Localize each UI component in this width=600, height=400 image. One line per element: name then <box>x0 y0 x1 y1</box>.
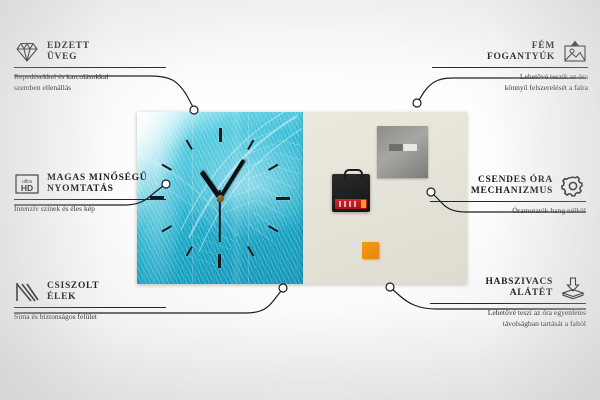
divider <box>14 307 166 308</box>
feature-title: HABSZIVACS ALÁTÉT <box>485 277 553 300</box>
polished-edges-icon <box>14 280 40 304</box>
foam-pad <box>362 242 379 259</box>
foam-pad-icon <box>560 276 586 300</box>
divider <box>14 199 166 200</box>
svg-text:HD: HD <box>21 183 33 193</box>
feature-desc: Óramutatók hang nélkül <box>430 206 586 217</box>
feature-fem-fogantyuk[interactable]: FÉM FOGANTYÚK Lehetővé teszik az óra kön… <box>432 40 588 93</box>
feature-magas-minosegu-nyomtatas[interactable]: ultra HD MAGAS MINŐSÉGŰ NYOMTATÁS Intenz… <box>14 172 166 215</box>
battery <box>335 199 367 209</box>
feature-title: EDZETT ÜVEG <box>47 41 90 64</box>
hanger-slot <box>389 144 417 151</box>
minute-hand <box>220 156 249 200</box>
feature-edzett-uveg[interactable]: EDZETT ÜVEG Repedésekkel és karcolásokka… <box>14 40 166 93</box>
feature-csendes-ora-mechanizmus[interactable]: CSENDES ÓRA MECHANIZMUS Óramutatók hang … <box>430 174 586 217</box>
diamond-icon <box>14 40 40 64</box>
infographic-stage: EDZETT ÜVEG Repedésekkel és karcolásokka… <box>0 0 600 400</box>
ultra-hd-icon: ultra HD <box>14 172 40 196</box>
divider <box>432 67 588 68</box>
feature-csiszolt-elek[interactable]: CSISZOLT ÉLEK Sima és biztonságos felüle… <box>14 280 166 323</box>
feature-desc: Repedésekkel és karcolásokkal szemben el… <box>14 72 166 93</box>
divider <box>14 67 166 68</box>
clock-hub <box>217 195 224 202</box>
clock-mechanism <box>332 174 370 212</box>
feature-title: FÉM FOGANTYÚK <box>487 41 555 64</box>
feature-desc: Intenzív színek és éles kép <box>14 204 166 215</box>
feature-title: MAGAS MINŐSÉGŰ NYOMTATÁS <box>47 173 147 196</box>
divider <box>430 303 586 304</box>
feature-title: CSENDES ÓRA MECHANIZMUS <box>471 175 553 198</box>
divider <box>430 201 586 202</box>
feature-title: CSISZOLT ÉLEK <box>47 281 99 304</box>
second-hand <box>218 198 220 250</box>
feature-desc: Lehetővé teszik az óra könnyű felszerelé… <box>432 72 588 93</box>
feature-habszivacs-alatet[interactable]: HABSZIVACS ALÁTÉT Lehetővé teszi az óra … <box>430 276 586 329</box>
product-image <box>137 112 467 284</box>
feature-desc: Sima és biztonságos felület <box>14 312 166 323</box>
gear-icon <box>560 174 586 198</box>
picture-hanger-icon <box>562 40 588 64</box>
mechanism-hook <box>344 169 363 179</box>
metal-hanger-plate <box>377 126 428 178</box>
feature-desc: Lehetővé teszi az óra egyenletes távolsá… <box>430 308 586 329</box>
